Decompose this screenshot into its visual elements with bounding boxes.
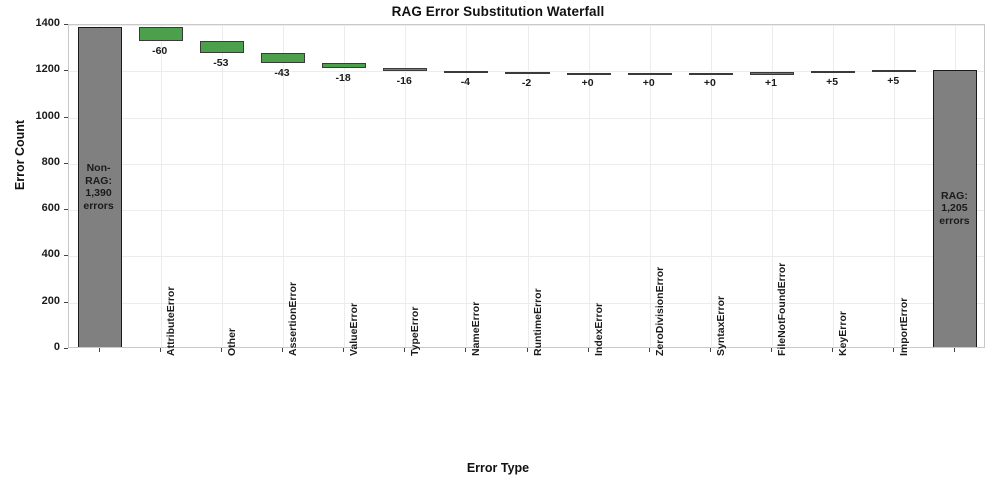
waterfall-bar	[872, 70, 916, 72]
gridline	[69, 118, 984, 119]
waterfall-bar	[444, 71, 488, 73]
gridline	[405, 25, 406, 347]
gridline	[69, 25, 984, 26]
x-tick-label: ImportError	[898, 298, 910, 356]
delta-label: -18	[313, 72, 373, 84]
x-tick-mark	[893, 348, 894, 352]
gridline	[69, 303, 984, 304]
plot-area	[68, 24, 985, 348]
x-tick-mark	[954, 348, 955, 352]
y-tick-label: 0	[2, 341, 60, 353]
x-tick-mark	[771, 348, 772, 352]
x-tick-mark	[99, 348, 100, 352]
x-axis-title: Error Type	[0, 461, 996, 475]
gridline	[894, 25, 895, 347]
waterfall-bar	[383, 68, 427, 72]
x-tick-mark	[527, 348, 528, 352]
x-tick-label: RuntimeError	[532, 288, 544, 356]
x-tick-mark	[343, 348, 344, 352]
waterfall-bar	[750, 72, 794, 74]
y-tick-label: 600	[2, 202, 60, 214]
delta-label: +0	[558, 77, 618, 89]
y-tick-label: 1200	[2, 63, 60, 75]
x-tick-label: FileNotFoundError	[776, 263, 788, 356]
x-tick-label: AttributeError	[165, 287, 177, 356]
x-tick-label: Other	[226, 328, 238, 356]
waterfall-bar	[200, 41, 244, 53]
total-bar	[78, 27, 122, 347]
x-tick-label: ValueError	[348, 303, 360, 356]
delta-label: +1	[741, 77, 801, 89]
y-tick-label: 200	[2, 295, 60, 307]
waterfall-bar	[261, 53, 305, 63]
y-tick-mark	[64, 209, 68, 210]
waterfall-chart-figure: RAG Error Substitution Waterfall Non- RA…	[0, 0, 996, 491]
x-tick-label: ZeroDivisionError	[654, 267, 666, 356]
x-tick-label: IndexError	[593, 303, 605, 356]
x-tick-label: KeyError	[837, 311, 849, 356]
gridline	[69, 210, 984, 211]
delta-label: -53	[191, 57, 251, 69]
x-tick-label: SyntaxError	[715, 296, 727, 356]
x-tick-mark	[404, 348, 405, 352]
x-tick-label: TypeError	[409, 307, 421, 356]
delta-label: -2	[497, 77, 557, 89]
y-tick-label: 800	[2, 156, 60, 168]
y-tick-mark	[64, 117, 68, 118]
x-tick-mark	[832, 348, 833, 352]
y-axis-title: Error Count	[13, 45, 27, 265]
delta-label: +5	[802, 76, 862, 88]
x-tick-mark	[588, 348, 589, 352]
x-tick-mark	[710, 348, 711, 352]
y-tick-label: 1400	[2, 17, 60, 29]
waterfall-bar	[322, 63, 366, 67]
waterfall-bar	[139, 27, 183, 41]
waterfall-bar	[505, 72, 549, 74]
y-tick-mark	[64, 163, 68, 164]
plot-inner	[69, 25, 984, 347]
gridline	[69, 164, 984, 165]
waterfall-bar	[811, 71, 855, 73]
x-tick-label: NameError	[470, 302, 482, 356]
y-tick-mark	[64, 255, 68, 256]
x-tick-mark	[160, 348, 161, 352]
waterfall-bar	[567, 73, 611, 75]
delta-label: -16	[374, 75, 434, 87]
delta-label: +0	[680, 77, 740, 89]
gridline	[161, 25, 162, 347]
delta-label: -60	[130, 45, 190, 57]
y-tick-mark	[64, 302, 68, 303]
x-tick-mark	[282, 348, 283, 352]
y-tick-label: 400	[2, 248, 60, 260]
total-bar	[933, 70, 977, 347]
y-tick-mark	[64, 24, 68, 25]
chart-title: RAG Error Substitution Waterfall	[0, 4, 996, 19]
y-tick-mark	[64, 348, 68, 349]
x-tick-mark	[649, 348, 650, 352]
waterfall-bar	[689, 73, 733, 75]
x-tick-mark	[221, 348, 222, 352]
waterfall-bar	[628, 73, 672, 75]
delta-label: +5	[863, 75, 923, 87]
delta-label: +0	[619, 77, 679, 89]
y-tick-label: 1000	[2, 110, 60, 122]
gridline	[222, 25, 223, 347]
x-tick-label: AssertionError	[287, 282, 299, 356]
gridline	[69, 256, 984, 257]
x-tick-mark	[465, 348, 466, 352]
delta-label: -43	[252, 67, 312, 79]
y-tick-mark	[64, 70, 68, 71]
delta-label: -4	[435, 76, 495, 88]
